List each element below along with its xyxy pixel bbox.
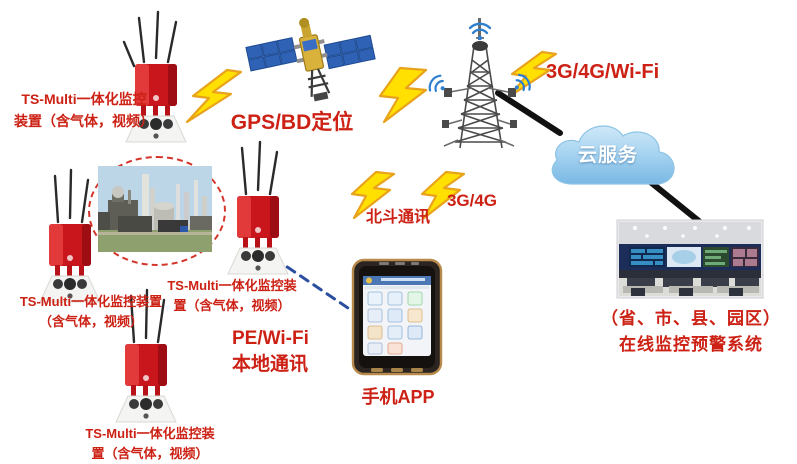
- control-room-photo: [617, 220, 763, 298]
- label-device-left: TS-Multi一体化监控装置 （含气体，视频）: [2, 292, 180, 332]
- label-local-comm: PE/Wi-Fi 本地通讯: [232, 326, 362, 377]
- satellite-icon: [248, 12, 376, 108]
- label-phone-app: 手机APP: [348, 386, 448, 409]
- label-3g4g-wifi: 3G/4G/Wi-Fi: [546, 60, 706, 85]
- cell-tower-icon: [426, 16, 534, 154]
- label-device-mid: TS-Multi一体化监控装 置（含气体，视频）: [158, 276, 306, 316]
- diagram-canvas: 云服务: [0, 0, 797, 464]
- rugged-tablet-icon[interactable]: [351, 258, 443, 376]
- label-device-top: TS-Multi一体化监控 装置（含气体，视频）: [4, 88, 164, 133]
- label-device-bottom: TS-Multi一体化监控装 置（含气体，视频）: [72, 424, 228, 464]
- label-monitor-center: （省、市、县、园区） 在线监控预警系统: [596, 306, 786, 357]
- industrial-plant-photo: [98, 166, 212, 252]
- label-gps: GPS/BD定位: [222, 110, 362, 136]
- label-3g4g: 3G/4G: [432, 190, 512, 211]
- cloud-label: 云服务: [578, 140, 638, 167]
